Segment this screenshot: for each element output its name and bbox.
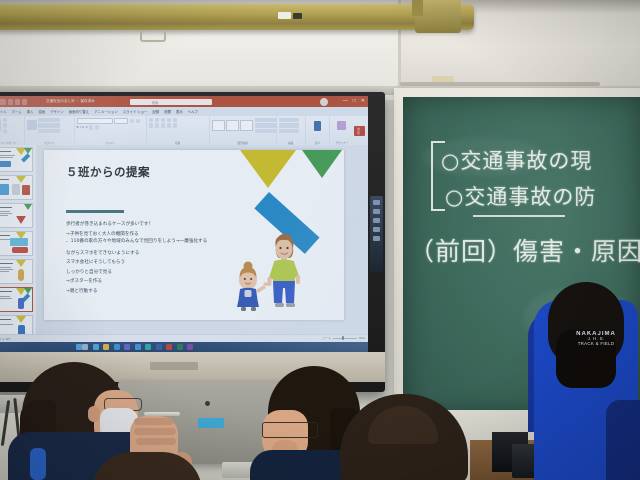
- section-button[interactable]: [38, 129, 60, 134]
- chalkboard-line-3: （前回）傷害・原因: [409, 232, 640, 268]
- mail-icon[interactable]: [135, 344, 141, 350]
- font-size-selector[interactable]: [114, 118, 128, 125]
- tracksuit-arm: [606, 400, 640, 480]
- powerpoint-title-bar: 交通安全のまとめ ・ 保存済み 検索 — □ ✕: [0, 96, 368, 107]
- slide-bullet: ながらスマホをできないようにする: [66, 249, 236, 259]
- ribbon-group-label: スライド: [25, 141, 74, 145]
- slide-bullet: →親と行動する: [66, 287, 236, 297]
- tab-help[interactable]: ヘルプ: [188, 109, 198, 114]
- slide-thumbnail[interactable]: [0, 259, 33, 284]
- replace-button[interactable]: [279, 123, 299, 128]
- find-button[interactable]: [279, 118, 299, 123]
- taskbar-icons[interactable]: [82, 344, 193, 350]
- ribbon-group-font[interactable]: B I U S フォント: [75, 116, 147, 145]
- chalkboard-underline: [473, 215, 565, 217]
- side-control-button: [373, 236, 380, 241]
- maximize-button[interactable]: □: [353, 98, 356, 104]
- align-center-icon[interactable]: [155, 123, 160, 128]
- autosave-toggle[interactable]: [0, 99, 6, 105]
- teams-icon[interactable]: [124, 344, 130, 350]
- cabinet-knob[interactable]: [205, 401, 210, 406]
- finger: [134, 428, 176, 435]
- underline-icon[interactable]: U: [82, 126, 84, 129]
- tab-view[interactable]: 表示: [176, 109, 183, 114]
- search-icon[interactable]: [82, 344, 88, 350]
- slide-bullet: スマホ会社にそうしてもらう: [66, 258, 236, 268]
- projector-roller-bracket: [412, 0, 423, 16]
- reset-button[interactable]: [38, 123, 60, 128]
- share-button[interactable]: 共有: [354, 126, 365, 136]
- windows-taskbar[interactable]: [0, 342, 368, 352]
- ribbon-group-clipboard[interactable]: クリップボード: [0, 116, 25, 145]
- excel-icon[interactable]: [177, 344, 183, 350]
- save-icon[interactable]: [8, 99, 13, 105]
- account-avatar[interactable]: [320, 98, 328, 106]
- display-side-control-panel[interactable]: [370, 196, 383, 272]
- search-box[interactable]: 検索: [130, 99, 212, 106]
- font-family-selector[interactable]: [77, 118, 113, 125]
- search-placeholder: 検索: [152, 100, 158, 105]
- side-control-button: [373, 218, 380, 223]
- ribbon-group-slides[interactable]: スライド: [25, 116, 75, 145]
- zoom-slider[interactable]: [333, 338, 357, 339]
- word-icon[interactable]: [156, 344, 162, 350]
- slide-thumbnail-panel[interactable]: [0, 145, 37, 336]
- window-controls[interactable]: — □ ✕: [343, 98, 365, 104]
- shape-outline-button[interactable]: [255, 123, 277, 128]
- new-slide-icon[interactable]: [27, 120, 37, 130]
- tab-draw[interactable]: 描画: [38, 109, 45, 114]
- ribbon-group-designer[interactable]: デザイナー: [330, 116, 355, 145]
- powerpoint-window[interactable]: 交通安全のまとめ ・ 保存済み 検索 — □ ✕ ファイル ホーム 挿入 描画: [0, 96, 368, 352]
- classroom-scene: ○交通事故の現 ○交通事故の防 （前回）傷害・原因 交通安全のまとめ ・ 保存済…: [0, 0, 640, 480]
- slide-bullet: しっかりと自分で見る: [66, 268, 236, 278]
- line-spacing-icon[interactable]: [173, 118, 178, 123]
- side-control-button: [373, 227, 380, 232]
- slide-thumbnail[interactable]: [0, 175, 33, 200]
- projector-screen-pull-tab[interactable]: [140, 30, 166, 42]
- shape-option[interactable]: [226, 120, 239, 131]
- decrease-indent-icon[interactable]: [161, 118, 166, 123]
- finger: [136, 438, 176, 445]
- slide-indicator: スライド 6/7: [0, 337, 10, 341]
- decrease-font-icon[interactable]: [136, 119, 141, 124]
- decor-triangle-yellow-icon: [16, 316, 26, 323]
- ribbon-group-drawing[interactable]: 図形描画: [210, 116, 277, 145]
- interactive-display-screen[interactable]: 交通安全のまとめ ・ 保存済み 検索 — □ ✕ ファイル ホーム 挿入 描画: [0, 96, 368, 352]
- copy-icon[interactable]: [3, 123, 8, 128]
- side-control-button: [373, 200, 380, 205]
- layout-button[interactable]: [38, 118, 60, 123]
- shape-gallery[interactable]: [212, 120, 253, 131]
- slide-thumbnail[interactable]: [0, 315, 33, 336]
- decor-triangle-yellow-icon: [16, 176, 26, 183]
- slide-thumbnail[interactable]: [0, 231, 33, 256]
- quick-access-toolbar[interactable]: [0, 99, 27, 105]
- increase-indent-icon[interactable]: [167, 118, 172, 123]
- slide-title-rule: [66, 210, 124, 213]
- tracksuit-back-text: NAKAJIMA J. H. S. TRACK & FIELD: [568, 332, 624, 346]
- undo-icon[interactable]: [15, 99, 20, 105]
- projector-roller-port: [293, 13, 302, 19]
- slide-body-text[interactable]: 歩行者が巻き込まれるケースが多いです！ →子供を見ておく大人の機関を作る 、11…: [66, 220, 236, 296]
- onenote-icon[interactable]: [187, 344, 193, 350]
- decor-triangle-green-icon: [302, 150, 342, 178]
- slide-bullet: →子供を見ておく大人の機関を作る: [66, 230, 236, 240]
- shape-option[interactable]: [212, 120, 225, 131]
- ribbon-group-voice[interactable]: 音声: [306, 116, 330, 145]
- powerpoint-icon[interactable]: [166, 344, 172, 350]
- tab-transitions[interactable]: 画面切り替え: [69, 109, 89, 114]
- ribbon-group-label: デザイナー: [330, 141, 355, 145]
- slide-bullet: 、110番の家の方々や地域のみんなで見回りをしよう→一層強化する: [66, 239, 236, 246]
- current-slide[interactable]: ５班からの提案 歩行者が巻き込まれるケースが多いです！ →子供を見ておく大人の機…: [44, 150, 344, 320]
- increase-font-icon[interactable]: [130, 119, 135, 124]
- ribbon-group-label: 段落: [147, 141, 209, 145]
- font-color-icon[interactable]: [89, 125, 94, 130]
- format-painter-icon[interactable]: [3, 129, 8, 134]
- finger: [134, 418, 174, 425]
- chalkboard-line-2: ○交通事故の防: [445, 181, 596, 211]
- slide-bullet: 歩行者が巻き込まれるケースが多いです！: [66, 220, 236, 230]
- slide-thumbnail[interactable]: [0, 203, 33, 228]
- ear: [88, 406, 100, 422]
- store-icon[interactable]: [145, 344, 151, 350]
- jersey-stripe: [30, 448, 46, 480]
- tab-animations[interactable]: アニメーション: [94, 109, 118, 114]
- italic-icon[interactable]: I: [80, 126, 81, 129]
- strikethrough-icon[interactable]: S: [86, 126, 88, 129]
- align-left-icon[interactable]: [149, 123, 154, 128]
- tab-review[interactable]: 校閲: [164, 109, 171, 114]
- mother-and-child-illustration: [230, 228, 312, 314]
- glasses: [262, 422, 318, 438]
- ribbon-group-editing[interactable]: 編集: [277, 116, 306, 145]
- decor-triangle-yellow-icon: [16, 260, 26, 267]
- slide-thumbnail[interactable]: [0, 147, 33, 172]
- tab-slideshow[interactable]: スライド ショー: [123, 109, 148, 114]
- dictate-icon[interactable]: [314, 121, 321, 131]
- tab-file[interactable]: ファイル: [0, 109, 7, 114]
- tab-home[interactable]: ホーム: [12, 109, 22, 114]
- ribbon-group-label: 編集: [277, 141, 305, 145]
- shape-option[interactable]: [240, 120, 253, 131]
- notes-button[interactable]: ノート: [322, 336, 331, 340]
- zoom-level[interactable]: 69%: [359, 336, 365, 340]
- minimize-button[interactable]: —: [343, 98, 348, 104]
- cabinet-blue-label: [198, 418, 224, 428]
- display-brand-logo: [150, 362, 198, 370]
- status-bar-right[interactable]: ノート 69%: [322, 336, 365, 340]
- design-ideas-icon[interactable]: [337, 121, 346, 130]
- shape-effects-button[interactable]: [255, 129, 277, 134]
- ribbon-group-label: 図形描画: [210, 141, 276, 145]
- tab-record[interactable]: 記録: [152, 109, 159, 114]
- wall-edge-grime: [400, 82, 600, 86]
- redo-icon[interactable]: [22, 99, 27, 105]
- bullet-list-icon[interactable]: [149, 118, 154, 123]
- projector-screen-roller: [0, 4, 474, 30]
- bold-icon[interactable]: B: [77, 126, 79, 129]
- ribbon-group-paragraph[interactable]: 段落: [147, 116, 210, 145]
- chalkboard-line-1: ○交通事故の現: [441, 145, 592, 175]
- tab-insert[interactable]: 挿入: [27, 109, 34, 114]
- ribbon-group-label: フォント: [75, 141, 146, 145]
- numbered-list-icon[interactable]: [155, 118, 160, 123]
- ribbon[interactable]: クリップボード スライド: [0, 116, 368, 146]
- document-name: 交通安全のまとめ ・ 保存済み: [46, 99, 95, 104]
- explorer-icon[interactable]: [103, 344, 109, 350]
- projector-roller-label: [278, 12, 291, 19]
- side-control-button: [373, 209, 380, 214]
- cut-icon[interactable]: [3, 118, 8, 123]
- columns-icon[interactable]: [173, 123, 178, 128]
- paste-icon[interactable]: [0, 119, 1, 131]
- slide-editing-stage[interactable]: ５班からの提案 歩行者が巻き込まれるケースが多いです！ →子供を見ておく大人の機…: [36, 145, 368, 334]
- select-button[interactable]: [279, 129, 299, 134]
- slide-thumbnail-selected[interactable]: [0, 287, 33, 312]
- slide-bullet: →ポスターを作る: [66, 277, 236, 287]
- tab-design[interactable]: デザイン: [50, 109, 64, 114]
- widgets-icon[interactable]: [93, 344, 99, 350]
- slide-title[interactable]: ５班からの提案: [66, 164, 150, 180]
- shape-fill-button[interactable]: [255, 118, 277, 123]
- ribbon-group-label: クリップボード: [0, 141, 24, 145]
- ribbon-group-label: 音声: [306, 141, 329, 145]
- ribbon-right-actions[interactable]: 共有: [354, 116, 368, 145]
- text-highlight-icon[interactable]: [95, 125, 100, 130]
- powerpoint-body: ５班からの提案 歩行者が巻き込まれるケースが多いです！ →子供を見ておく大人の機…: [0, 145, 368, 334]
- justify-icon[interactable]: [167, 123, 172, 128]
- decor-triangle-green-icon: [24, 204, 32, 210]
- close-button[interactable]: ✕: [361, 98, 365, 104]
- decor-triangle-yellow-icon: [240, 150, 296, 188]
- edge-icon[interactable]: [114, 344, 120, 350]
- align-right-icon[interactable]: [161, 123, 166, 128]
